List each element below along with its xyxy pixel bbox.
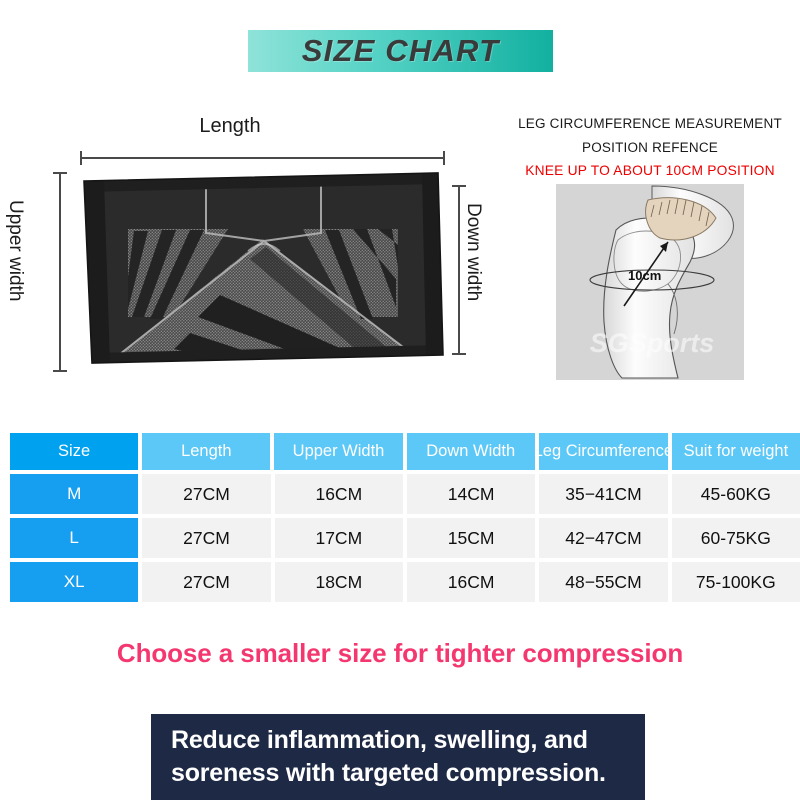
- leg-measurement-reference: LEG CIRCUMFERENCE MEASUREMENT POSITION R…: [500, 112, 800, 402]
- cell-leg-circumference: 35−41CM: [539, 474, 667, 514]
- cell-leg-circumference: 48−55CM: [539, 562, 667, 602]
- cell-size: XL: [10, 562, 138, 602]
- table-row: XL 27CM 18CM 16CM 48−55CM 75-100KG: [10, 562, 800, 602]
- cell-length: 27CM: [142, 562, 270, 602]
- dimension-bar: [59, 172, 61, 372]
- dimension-cap-bottom: [53, 370, 67, 372]
- page-title: SIZE CHART: [302, 33, 499, 69]
- size-chart-page: SIZE CHART Length Upper width Down width: [0, 0, 800, 800]
- length-dimension-line: [80, 151, 445, 165]
- cell-down-width: 14CM: [407, 474, 535, 514]
- cell-leg-circumference: 42−47CM: [539, 518, 667, 558]
- measure-label: 10cm: [628, 268, 661, 283]
- tagline: Choose a smaller size for tighter compre…: [0, 638, 800, 669]
- watermark-text: SGSports: [590, 328, 715, 358]
- footer-line-1: Reduce inflammation, swelling, and: [171, 724, 588, 757]
- cell-down-width: 15CM: [407, 518, 535, 558]
- footer-line-2: soreness with targeted compression.: [171, 757, 606, 790]
- cell-down-width: 16CM: [407, 562, 535, 602]
- footer-banner: Reduce inflammation, swelling, and soren…: [151, 714, 645, 800]
- table-row: M 27CM 16CM 14CM 35−41CM 45-60KG: [10, 474, 800, 514]
- table-header-upper-width: Upper Width: [274, 433, 402, 470]
- knee-measurement-image: 10cm SGSports: [556, 184, 744, 380]
- reference-line-3: KNEE UP TO ABOUT 10CM POSITION: [500, 159, 800, 183]
- cell-upper-width: 16CM: [275, 474, 403, 514]
- dimension-bar: [80, 157, 445, 159]
- table-row: L 27CM 17CM 15CM 42−47CM 60-75KG: [10, 518, 800, 558]
- table-header-row: Size Length Upper Width Down Width Leg C…: [10, 433, 800, 470]
- upper-width-label: Upper width: [4, 200, 26, 301]
- reference-line-1: LEG CIRCUMFERENCE MEASUREMENT: [500, 112, 800, 136]
- table-header-down-width: Down Width: [407, 433, 535, 470]
- upper-width-dimension-line: [53, 172, 67, 372]
- size-table: Size Length Upper Width Down Width Leg C…: [10, 433, 800, 606]
- reference-line-2: POSITION REFENCE: [500, 136, 800, 160]
- header-banner: SIZE CHART: [248, 30, 553, 72]
- length-label-text: Length: [199, 115, 260, 137]
- down-width-label: Down width: [462, 203, 484, 301]
- cell-size: L: [10, 518, 138, 558]
- dimension-cap-bottom: [452, 353, 466, 355]
- table-header-leg-circumference: Leg Circumference: [539, 433, 668, 470]
- length-label: Length: [0, 115, 500, 138]
- cell-length: 27CM: [142, 474, 270, 514]
- product-diagram: Length Upper width Down width: [0, 95, 500, 415]
- cell-upper-width: 17CM: [275, 518, 403, 558]
- dimension-cap-right: [443, 151, 445, 165]
- dimension-bar: [458, 185, 460, 355]
- knee-sleeve-image: [78, 167, 448, 367]
- table-header-size: Size: [10, 433, 138, 470]
- cell-upper-width: 18CM: [275, 562, 403, 602]
- cell-suit-for-weight: 60-75KG: [672, 518, 800, 558]
- cell-suit-for-weight: 45-60KG: [672, 474, 800, 514]
- cell-suit-for-weight: 75-100KG: [672, 562, 800, 602]
- table-header-length: Length: [142, 433, 270, 470]
- table-header-suit-for-weight: Suit for weight: [672, 433, 800, 470]
- cell-size: M: [10, 474, 138, 514]
- cell-length: 27CM: [142, 518, 270, 558]
